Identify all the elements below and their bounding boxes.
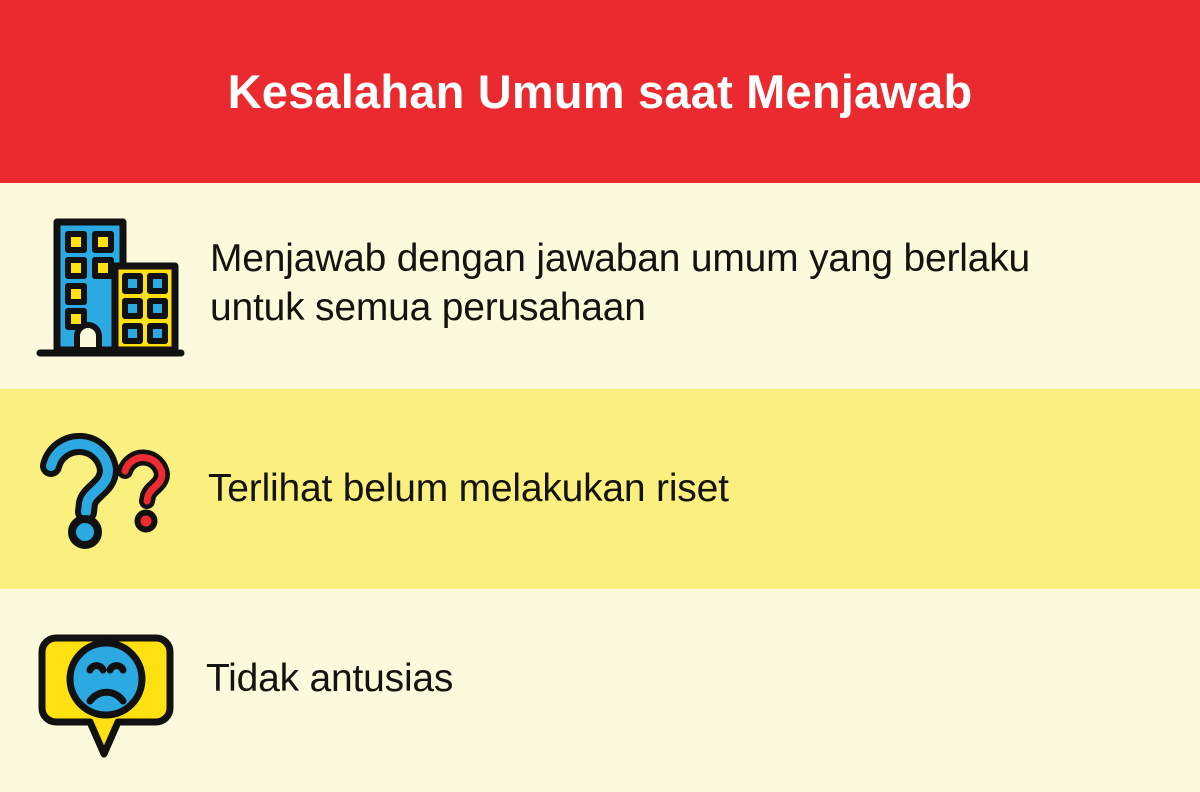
sad-face-speech-bubble-icon [30,616,182,766]
double-question-mark-icon [33,424,183,554]
header-banner: Kesalahan Umum saat Menjawab [0,0,1200,183]
list-item-label: Tidak antusias [206,655,533,704]
office-buildings-icon [35,210,185,362]
infographic-page: Kesalahan Umum saat Menjawab [0,0,1200,792]
row-icon-container [0,616,206,766]
list-item: Terlihat belum melakukan riset [0,389,1200,589]
row-icon-container [0,424,208,554]
list-item: Tidak antusias [0,589,1200,792]
list-item: Menjawab dengan jawaban umum yang berlak… [0,183,1200,389]
list-item-label: Menjawab dengan jawaban umum yang berlak… [210,235,1190,333]
list-item-label: Terlihat belum melakukan riset [208,465,809,514]
row-icon-container [0,210,210,362]
page-title: Kesalahan Umum saat Menjawab [188,66,1013,118]
